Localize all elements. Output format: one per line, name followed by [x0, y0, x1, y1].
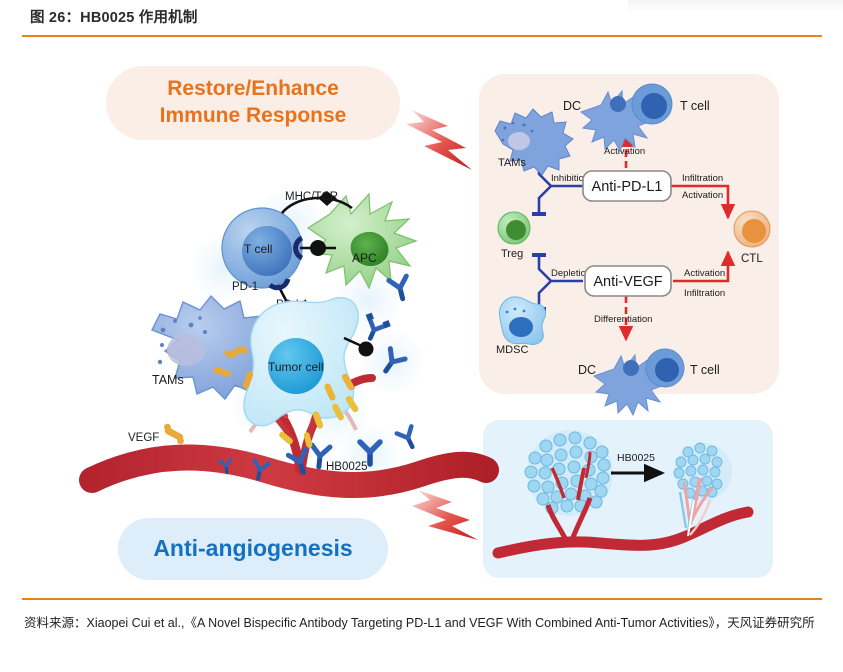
label-tcell-left: T cell: [244, 242, 272, 256]
label-tumor-cell: Tumor cell: [268, 360, 324, 374]
title-divider: [22, 35, 822, 37]
label-mhc-tcr: MHC/TCR: [285, 191, 338, 203]
mhc-tcr-bond: MHC/TCR: [282, 191, 352, 213]
figure-page: 图 26：HB0025 作用机制 Restore/Enhance Immune …: [0, 0, 843, 672]
label-pdl1: PD-L1: [276, 299, 309, 311]
antiangiogenesis-panel: [483, 420, 773, 578]
label-pd1: PD-1: [232, 281, 258, 293]
top-grey-band: [628, 0, 843, 12]
banner-restore-immune-response: Restore/Enhance Immune Response: [106, 66, 400, 140]
cell-tams-left: TAMs: [152, 296, 273, 399]
source-note: 资料来源：Xiaopei Cui et al.,《A Novel Bispeci…: [24, 608, 824, 639]
cell-apc: APC: [308, 194, 416, 288]
label-hb0025: HB0025: [326, 461, 368, 473]
banner-anti-angiogenesis: Anti-angiogenesis: [118, 518, 388, 580]
banner-immune-line1: Restore/Enhance: [167, 77, 339, 100]
vegf-ligands: VEGF: [128, 341, 359, 448]
lightning-bolt-bottom: [412, 490, 478, 540]
banner-immune-line2: Immune Response: [160, 104, 347, 127]
cell-tcell-left: T cell: [222, 208, 302, 288]
pd1-pdl1-bond: PD-1 PD-L1: [232, 279, 309, 318]
lightning-bolt-top: [406, 110, 472, 170]
blood-vessel: [92, 378, 486, 485]
halo-group: [175, 190, 423, 485]
label-vegf: VEGF: [128, 432, 159, 444]
tumor-antibody-bond: [344, 338, 374, 357]
tcell-apc-receptor: [296, 238, 336, 258]
page-title: 图 26：HB0025 作用机制: [30, 6, 198, 27]
banner-angio-label: Anti-angiogenesis: [153, 534, 352, 563]
label-tams-left: TAMs: [152, 373, 184, 387]
antibody-icons: HB0025: [220, 276, 420, 480]
footer-divider: [22, 598, 822, 600]
immune-mechanism-panel: [479, 74, 779, 394]
label-apc: APC: [352, 251, 377, 265]
cell-tumor: Tumor cell: [244, 298, 358, 426]
